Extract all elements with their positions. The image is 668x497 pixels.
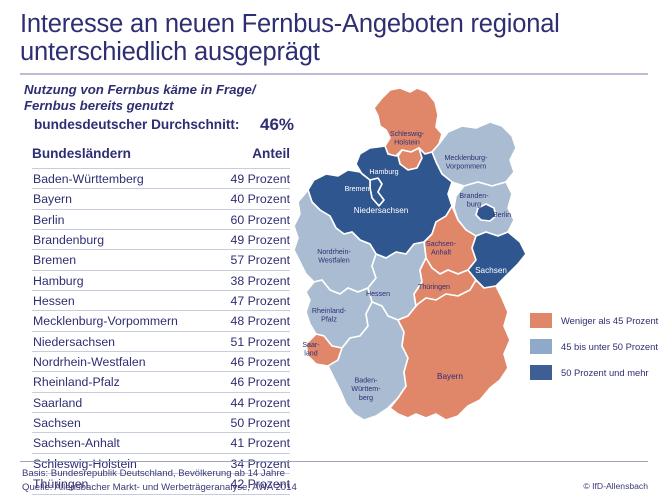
cell-state-share: 57 Prozent bbox=[231, 253, 290, 267]
table-row: Hamburg38 Prozent bbox=[32, 270, 290, 290]
map-label-bremen: Bremen bbox=[345, 185, 370, 193]
table-row: Nordrhein-Westfalen46 Prozent bbox=[32, 351, 290, 371]
table-row: Brandenburg49 Prozent bbox=[32, 229, 290, 249]
cell-state-share: 47 Prozent bbox=[231, 294, 290, 308]
cell-state-name: Mecklenburg-Vorpommern bbox=[33, 314, 178, 328]
table-row: Bremen57 Prozent bbox=[32, 249, 290, 269]
states-table: Bundesländern Anteil Baden-Württemberg49… bbox=[32, 146, 290, 495]
table-row: Rheinland-Pfalz46 Prozent bbox=[32, 371, 290, 391]
table-row: Mecklenburg-Vorpommern48 Prozent bbox=[32, 310, 290, 330]
cell-state-name: Hessen bbox=[33, 294, 75, 308]
table-row: Sachsen50 Prozent bbox=[32, 412, 290, 432]
legend-color-swatch bbox=[530, 313, 552, 328]
cell-state-share: 46 Prozent bbox=[231, 375, 290, 389]
map-label-bayern: Bayern bbox=[437, 372, 463, 381]
cell-state-share: 38 Prozent bbox=[231, 274, 290, 288]
cell-state-name: Baden-Württemberg bbox=[33, 172, 144, 186]
table-row: Bayern40 Prozent bbox=[32, 188, 290, 208]
map-label-hamburg: Hamburg bbox=[369, 168, 398, 176]
table-row: Niedersachsen51 Prozent bbox=[32, 331, 290, 351]
cell-state-share: 49 Prozent bbox=[231, 233, 290, 247]
cell-state-name: Brandenburg bbox=[33, 233, 104, 247]
cell-state-name: Bremen bbox=[33, 253, 76, 267]
title-line-2: unterschiedlich ausgeprägt bbox=[20, 38, 650, 66]
legend-color-swatch bbox=[530, 365, 552, 380]
map-label-hessen: Hessen bbox=[366, 290, 390, 298]
footnote-basis: Basis: Bundesrepublik Deutschland, Bevöl… bbox=[22, 467, 297, 481]
table-row: Sachsen-Anhalt41 Prozent bbox=[32, 432, 290, 452]
legend-item[interactable]: 50 Prozent und mehr bbox=[530, 364, 668, 390]
footnotes: Basis: Bundesrepublik Deutschland, Bevöl… bbox=[22, 467, 297, 495]
column-header-state: Bundesländern bbox=[32, 146, 131, 161]
page-title: Interesse an neuen Fernbus-Angeboten reg… bbox=[20, 10, 650, 66]
table-header: Bundesländern Anteil bbox=[32, 146, 290, 168]
cell-state-name: Bayern bbox=[33, 192, 72, 206]
cell-state-name: Nordrhein-Westfalen bbox=[33, 355, 146, 369]
legend-color-swatch bbox=[530, 339, 552, 354]
map-legend: Weniger als 45 Prozent45 bis unter 50 Pr… bbox=[530, 312, 668, 390]
column-header-share: Anteil bbox=[252, 146, 290, 161]
cell-state-share: 49 Prozent bbox=[231, 172, 290, 186]
title-divider bbox=[20, 73, 648, 75]
map-label-mecklenburg-vorpommern: Mecklenburg-Vorpommern bbox=[445, 154, 489, 171]
map-label-sachsen: Sachsen bbox=[475, 266, 507, 275]
germany-choropleth-map: Schleswig-HolsteinHamburgBremenNiedersac… bbox=[286, 82, 536, 462]
cell-state-share: 51 Prozent bbox=[231, 335, 290, 349]
cell-state-share: 41 Prozent bbox=[231, 436, 290, 450]
copyright: © IfD-Allensbach bbox=[583, 481, 648, 491]
table-body: Baden-Württemberg49 ProzentBayern40 Proz… bbox=[32, 168, 290, 495]
map-label-thueringen: Thüringen bbox=[418, 283, 450, 291]
cell-state-share: 60 Prozent bbox=[231, 213, 290, 227]
cell-state-share: 44 Prozent bbox=[231, 396, 290, 410]
map-svg: Schleswig-HolsteinHamburgBremenNiedersac… bbox=[286, 82, 536, 462]
legend-label: 45 bis unter 50 Prozent bbox=[561, 341, 658, 352]
cell-state-name: Saarland bbox=[33, 396, 82, 410]
infographic-root: Interesse an neuen Fernbus-Angeboten reg… bbox=[0, 0, 668, 497]
subtitle-line-2: Fernbus bereits genutzt bbox=[24, 98, 324, 114]
subtitle-line-1: Nutzung von Fernbus käme in Frage/ bbox=[24, 82, 324, 98]
table-row: Saarland44 Prozent bbox=[32, 392, 290, 412]
cell-state-share: 50 Prozent bbox=[231, 416, 290, 430]
footer-divider bbox=[20, 461, 648, 462]
map-label-saarland: Saar-land bbox=[302, 341, 320, 358]
cell-state-name: Berlin bbox=[33, 213, 64, 227]
title-line-1: Interesse an neuen Fernbus-Angeboten reg… bbox=[20, 10, 650, 38]
map-label-schleswig-holstein: Schleswig-Holstein bbox=[390, 130, 425, 147]
cell-state-name: Sachsen bbox=[33, 416, 81, 430]
footnote-quelle: Quelle: Allensbacher Markt- und Werbeträ… bbox=[22, 481, 297, 495]
cell-state-name: Rheinland-Pfalz bbox=[33, 375, 120, 389]
table-row: Hessen47 Prozent bbox=[32, 290, 290, 310]
map-label-nordrhein-westfalen: Nordrhein-Westfalen bbox=[317, 248, 351, 265]
legend-item[interactable]: 45 bis unter 50 Prozent bbox=[530, 338, 668, 364]
cell-state-name: Sachsen-Anhalt bbox=[33, 436, 120, 450]
table-row: Baden-Württemberg49 Prozent bbox=[32, 168, 290, 188]
table-row: Berlin60 Prozent bbox=[32, 209, 290, 229]
legend-item[interactable]: Weniger als 45 Prozent bbox=[530, 312, 668, 338]
cell-state-share: 40 Prozent bbox=[231, 192, 290, 206]
cell-state-name: Hamburg bbox=[33, 274, 84, 288]
cell-state-share: 48 Prozent bbox=[231, 314, 290, 328]
cell-state-share: 46 Prozent bbox=[231, 355, 290, 369]
national-average-label: bundesdeutscher Durchschnitt: bbox=[34, 117, 239, 132]
subtitle: Nutzung von Fernbus käme in Frage/ Fernb… bbox=[24, 82, 324, 114]
cell-state-name: Niedersachsen bbox=[33, 335, 115, 349]
map-label-niedersachsen: Niedersachsen bbox=[354, 206, 409, 215]
legend-label: Weniger als 45 Prozent bbox=[561, 315, 658, 326]
map-label-berlin: Berlin bbox=[493, 211, 511, 219]
legend-label: 50 Prozent und mehr bbox=[561, 367, 649, 378]
